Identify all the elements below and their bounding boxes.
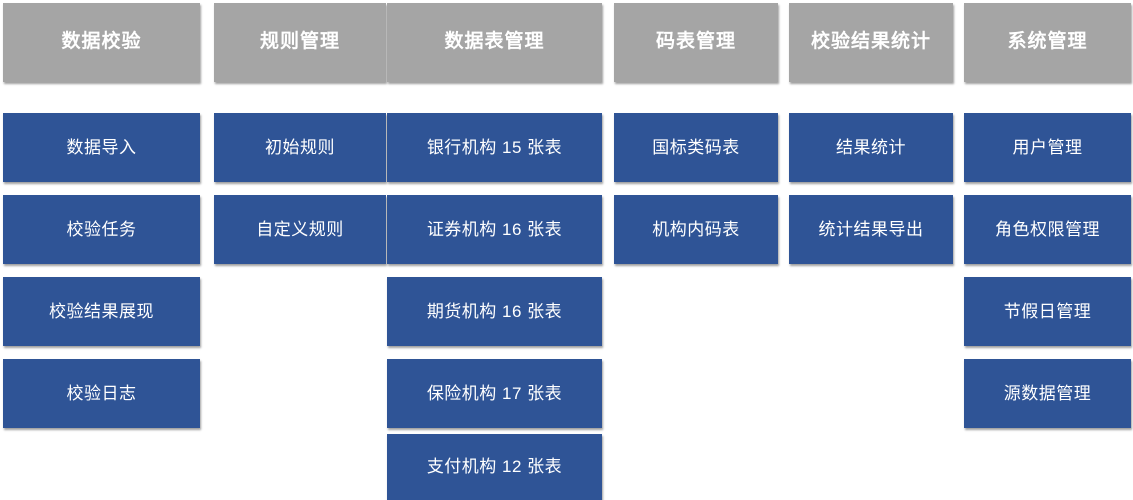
- column-header-label: 校验结果统计: [811, 32, 931, 53]
- column-header-code-table-management[interactable]: 码表管理: [614, 3, 778, 82]
- menu-item-code-table-management-1[interactable]: 国标类码表: [614, 113, 778, 182]
- menu-item-label: 国标类码表: [652, 138, 740, 158]
- menu-item-label: 角色权限管理: [995, 220, 1100, 240]
- menu-item-label: 用户管理: [1013, 138, 1083, 158]
- menu-item-data-validation-2[interactable]: 校验任务: [3, 195, 200, 264]
- menu-item-label: 自定义规则: [256, 220, 344, 240]
- menu-item-label: 结果统计: [836, 138, 906, 158]
- column-system-management: 系统管理用户管理角色权限管理节假日管理源数据管理: [964, 0, 1131, 500]
- menu-item-code-table-management-2[interactable]: 机构内码表: [614, 195, 778, 264]
- menu-item-data-table-management-1[interactable]: 银行机构 15 张表: [387, 113, 602, 182]
- menu-item-label: 银行机构 15 张表: [427, 138, 562, 158]
- menu-item-label: 机构内码表: [652, 220, 740, 240]
- menu-item-data-validation-4[interactable]: 校验日志: [3, 359, 200, 428]
- menu-item-label: 统计结果导出: [819, 220, 924, 240]
- menu-item-label: 校验任务: [67, 220, 137, 240]
- menu-item-data-table-management-2[interactable]: 证券机构 16 张表: [387, 195, 602, 264]
- column-validation-result-statistics: 校验结果统计结果统计统计结果导出: [789, 0, 953, 500]
- column-code-table-management: 码表管理国标类码表机构内码表: [614, 0, 778, 500]
- menu-item-data-table-management-3[interactable]: 期货机构 16 张表: [387, 277, 602, 346]
- column-header-label: 码表管理: [656, 32, 736, 53]
- column-header-label: 数据表管理: [444, 32, 544, 53]
- menu-item-system-management-2[interactable]: 角色权限管理: [964, 195, 1131, 264]
- menu-item-system-management-4[interactable]: 源数据管理: [964, 359, 1131, 428]
- column-header-label: 数据校验: [61, 32, 141, 53]
- column-header-rule-management[interactable]: 规则管理: [214, 3, 386, 82]
- column-rule-management: 规则管理初始规则自定义规则: [214, 0, 386, 500]
- menu-item-rule-management-1[interactable]: 初始规则: [214, 113, 386, 182]
- column-header-label: 系统管理: [1007, 32, 1087, 53]
- menu-item-validation-result-statistics-1[interactable]: 结果统计: [789, 113, 953, 182]
- menu-item-label: 支付机构 12 张表: [427, 457, 562, 477]
- menu-item-label: 数据导入: [67, 138, 137, 158]
- menu-item-label: 源数据管理: [1004, 384, 1092, 404]
- menu-item-label: 节假日管理: [1004, 302, 1092, 322]
- column-header-data-table-management[interactable]: 数据表管理: [387, 3, 602, 82]
- column-header-validation-result-statistics[interactable]: 校验结果统计: [789, 3, 953, 82]
- menu-item-label: 校验日志: [67, 384, 137, 404]
- menu-item-label: 证券机构 16 张表: [427, 220, 562, 240]
- column-header-system-management[interactable]: 系统管理: [964, 3, 1131, 82]
- functional-structure-board: 数据校验数据导入校验任务校验结果展现校验日志规则管理初始规则自定义规则数据表管理…: [0, 0, 1133, 500]
- menu-item-label: 保险机构 17 张表: [427, 384, 562, 404]
- menu-item-data-table-management-5[interactable]: 支付机构 12 张表: [387, 434, 602, 500]
- column-data-table-management: 数据表管理银行机构 15 张表证券机构 16 张表期货机构 16 张表保险机构 …: [387, 0, 602, 500]
- menu-item-system-management-1[interactable]: 用户管理: [964, 113, 1131, 182]
- menu-item-data-validation-3[interactable]: 校验结果展现: [3, 277, 200, 346]
- column-header-label: 规则管理: [260, 32, 340, 53]
- menu-item-label: 校验结果展现: [49, 302, 154, 322]
- menu-item-rule-management-2[interactable]: 自定义规则: [214, 195, 386, 264]
- menu-item-data-validation-1[interactable]: 数据导入: [3, 113, 200, 182]
- menu-item-label: 初始规则: [265, 138, 335, 158]
- menu-item-data-table-management-4[interactable]: 保险机构 17 张表: [387, 359, 602, 428]
- menu-item-label: 期货机构 16 张表: [427, 302, 562, 322]
- menu-item-validation-result-statistics-2[interactable]: 统计结果导出: [789, 195, 953, 264]
- menu-item-system-management-3[interactable]: 节假日管理: [964, 277, 1131, 346]
- column-data-validation: 数据校验数据导入校验任务校验结果展现校验日志: [3, 0, 200, 500]
- column-header-data-validation[interactable]: 数据校验: [3, 3, 200, 82]
